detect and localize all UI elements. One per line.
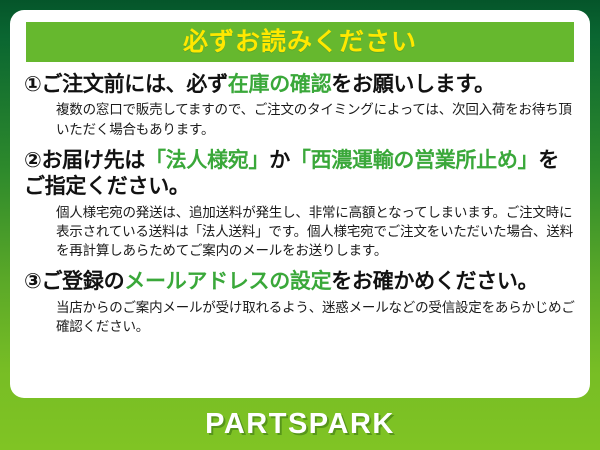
footer-brand-bar: PARTSPARK xyxy=(0,398,600,450)
notice-card: 必ずお読みください ①ご注文前には、必ず在庫の確認をお願いします。複数の窓口で販… xyxy=(10,10,590,398)
headline-accent-text: 「西濃運輸の営業所止め」 xyxy=(290,149,538,172)
brand-name: PARTSPARK xyxy=(205,408,395,441)
section-marker: ② xyxy=(24,149,41,172)
headline-text: お届け先は xyxy=(41,149,145,172)
section-headline: ②お届け先は「法人様宛」か「西濃運輸の営業所止め」をご指定ください。 xyxy=(24,148,576,201)
headline-text: か xyxy=(269,149,290,172)
notice-section: ②お届け先は「法人様宛」か「西濃運輸の営業所止め」をご指定ください。個人様宅宛の… xyxy=(24,148,576,260)
headline-text: ご登録の xyxy=(41,270,124,293)
section-body: 当店からのご案内メールが受け取れるよう、迷惑メールなどの受信設定をあらかじめご確… xyxy=(56,298,576,336)
section-marker: ③ xyxy=(24,270,41,293)
headline-accent-text: 在庫の確認 xyxy=(228,73,332,96)
notice-section: ③ご登録のメールアドレスの設定をお確かめください。当店からのご案内メールが受け取… xyxy=(24,269,576,336)
section-headline: ③ご登録のメールアドレスの設定をお確かめください。 xyxy=(24,269,576,295)
headline-text: ご注文前には、必ず xyxy=(41,73,227,96)
notice-poster: 必ずお読みください ①ご注文前には、必ず在庫の確認をお願いします。複数の窓口で販… xyxy=(0,0,600,450)
sections-container: ①ご注文前には、必ず在庫の確認をお願いします。複数の窓口で販売してますので、ご注… xyxy=(24,72,576,336)
section-marker: ① xyxy=(24,73,41,96)
headline-text: をお確かめください。 xyxy=(331,270,538,293)
headline-text: をお願いします。 xyxy=(331,73,495,96)
headline-accent-text: メールアドレスの設定 xyxy=(124,270,331,293)
section-body: 複数の窓口で販売してますので、ご注文のタイミングによっては、次回入荷をお待ち頂い… xyxy=(56,100,576,138)
section-body: 個人様宅宛の発送は、追加送料が発生し、非常に高額となってしまいます。ご注文時に表… xyxy=(56,203,576,260)
header-banner: 必ずお読みください xyxy=(26,22,574,62)
headline-accent-text: 「法人様宛」 xyxy=(145,149,269,172)
notice-section: ①ご注文前には、必ず在庫の確認をお願いします。複数の窓口で販売してますので、ご注… xyxy=(24,72,576,139)
section-headline: ①ご注文前には、必ず在庫の確認をお願いします。 xyxy=(24,72,576,98)
banner-title: 必ずお読みください xyxy=(183,30,417,55)
